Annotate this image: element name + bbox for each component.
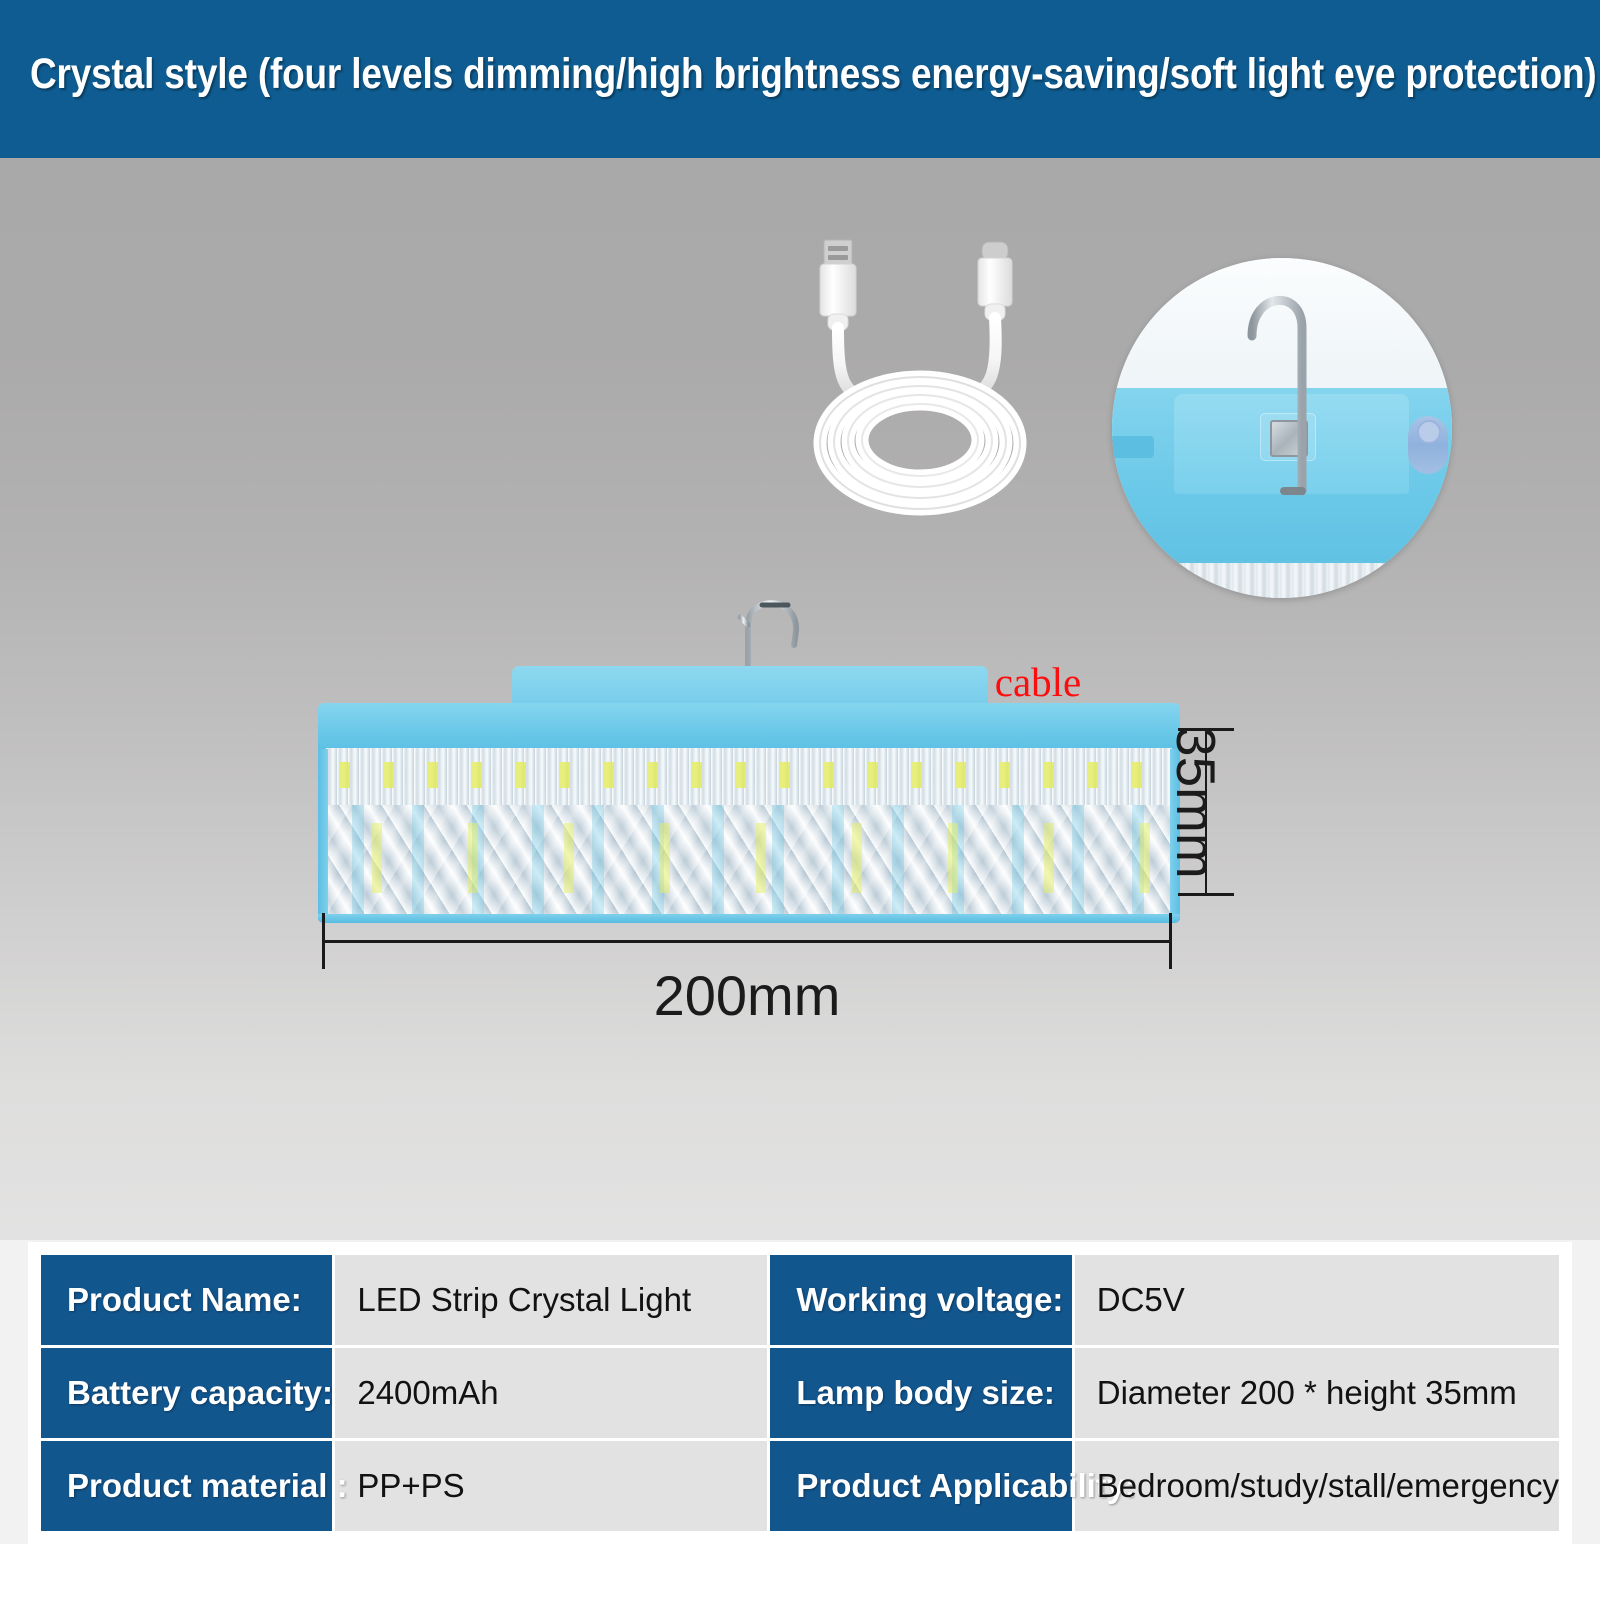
table-row: Battery capacity: 2400mAh Lamp body size… [41, 1348, 1559, 1438]
product-photo-stage: Free charging cable [0, 158, 1600, 1240]
spec-value-product-name: LED Strip Crystal Light [335, 1255, 767, 1345]
led-chips [326, 762, 1172, 788]
spec-label-product-material: Product material : [41, 1441, 332, 1531]
spec-label-working-voltage: Working voltage: [770, 1255, 1071, 1345]
hook-closeup-inset [1112, 258, 1452, 598]
spec-value-working-voltage: DC5V [1075, 1255, 1559, 1345]
spec-value-product-applicability: Bedroom/study/stall/emergency [1075, 1441, 1559, 1531]
spec-value-lamp-body-size: Diameter 200 * height 35mm [1075, 1348, 1559, 1438]
lamp-led-strip [326, 748, 1172, 806]
table-row: Product material : PP+PS Product Applica… [41, 1441, 1559, 1531]
spec-label-battery-capacity: Battery capacity: [41, 1348, 332, 1438]
usb-cable-image [770, 228, 1070, 558]
lamp-bottom-edge [318, 914, 1180, 923]
lamp-product-image [318, 583, 1180, 923]
spec-label-product-name: Product Name: [41, 1255, 332, 1345]
width-dimension-line [322, 940, 1172, 943]
spec-label-lamp-body-size: Lamp body size: [770, 1348, 1071, 1438]
lamp-left-edge [318, 749, 328, 920]
height-dimension-label: 35mm [1164, 726, 1228, 906]
usb-cable-icon [770, 228, 1070, 558]
spec-label-product-applicability: Product Applicability: [770, 1441, 1071, 1531]
lamp-top-housing [318, 703, 1180, 751]
specification-table: Product Name: LED Strip Crystal Light Wo… [28, 1242, 1572, 1544]
table-row: Product Name: LED Strip Crystal Light Wo… [41, 1255, 1559, 1345]
page-title: Crystal style (four levels dimming/high … [30, 50, 1359, 99]
inset-side-tab [1112, 436, 1154, 458]
width-dimension-label: 200mm [322, 963, 1172, 1028]
lamp-crystal-diffuser [326, 805, 1172, 920]
spec-value-battery-capacity: 2400mAh [335, 1348, 767, 1438]
inset-hanging-hook-icon [1222, 276, 1342, 526]
page-bottom-margin [0, 1544, 1600, 1600]
spec-value-product-material: PP+PS [335, 1441, 767, 1531]
crystal-led-reflections [326, 823, 1172, 893]
width-dimension-cap-right [1169, 913, 1172, 969]
product-infographic-page: Crystal style (four levels dimming/high … [0, 0, 1600, 1600]
header-banner: Crystal style (four levels dimming/high … [0, 0, 1600, 158]
inset-power-button-dot [1417, 420, 1441, 444]
